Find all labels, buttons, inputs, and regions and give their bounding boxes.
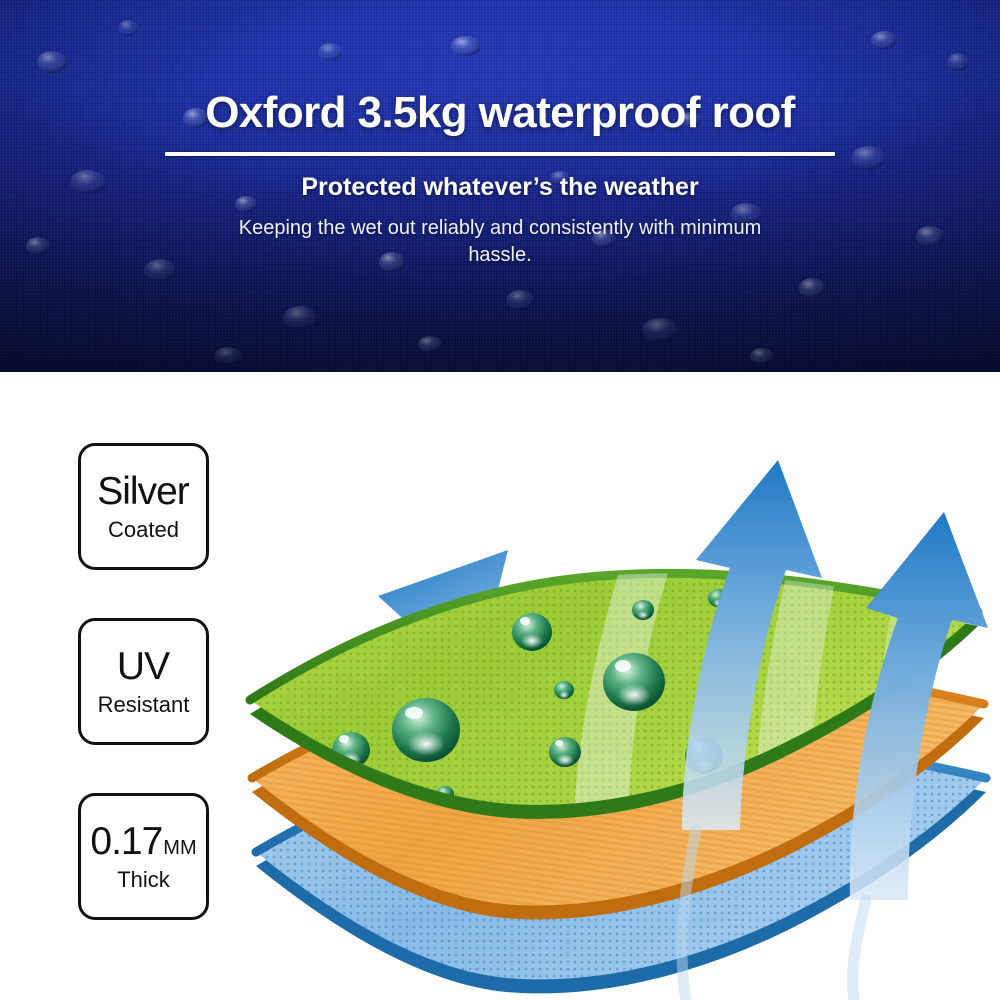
badge-main-value: Silver — [97, 472, 190, 511]
layered-fabric-illustration — [230, 400, 1000, 1000]
badge-unit-text: MM — [163, 838, 196, 858]
badge-main-value: UV — [117, 647, 170, 686]
badge-sub-label: Resistant — [98, 694, 190, 716]
badge-silver-coated: Silver Coated — [78, 443, 209, 570]
badge-sub-label: Thick — [117, 869, 170, 891]
feature-badge-list: Silver Coated UV Resistant 0.17 MM Thick — [78, 443, 209, 920]
hero-divider — [165, 152, 835, 156]
hero-banner: Oxford 3.5kg waterproof roof Protected w… — [0, 0, 1000, 372]
badge-thickness: 0.17 MM Thick — [78, 793, 209, 920]
badge-value-text: UV — [117, 647, 169, 686]
badge-sub-label: Coated — [108, 519, 179, 541]
product-feature-infographic: Oxford 3.5kg waterproof roof Protected w… — [0, 0, 1000, 1000]
badge-uv-resistant: UV Resistant — [78, 618, 209, 745]
badge-value-text: 0.17 — [90, 822, 162, 861]
hero-body-text: Keeping the wet out reliably and consist… — [220, 215, 780, 269]
hero-title: Oxford 3.5kg waterproof roof — [205, 88, 795, 138]
badge-value-text: Silver — [97, 472, 189, 511]
badge-main-value: 0.17 MM — [90, 822, 196, 861]
hero-subtitle: Protected whatever’s the weather — [301, 173, 698, 202]
